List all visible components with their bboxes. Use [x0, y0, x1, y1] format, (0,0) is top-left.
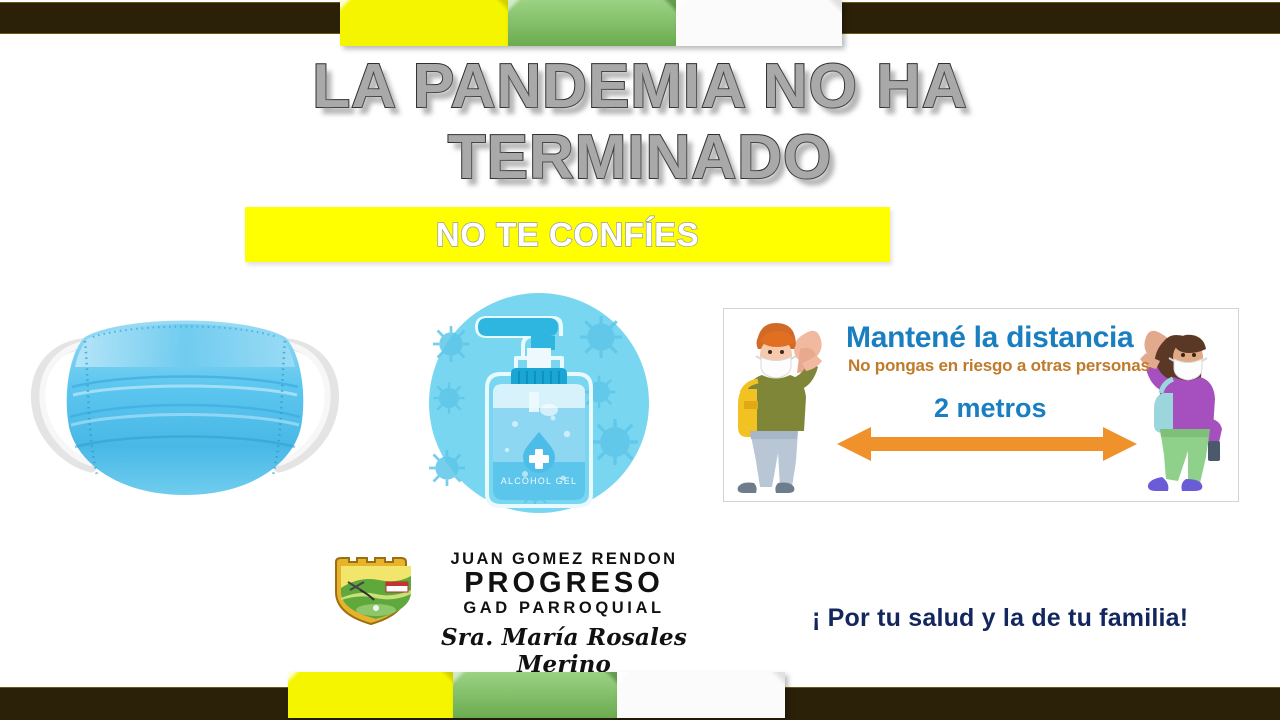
subtitle-banner: NO TE CONFÍES	[245, 207, 890, 262]
president-name: Sra. María Rosales Merino	[430, 624, 698, 678]
subtitle-text: NO TE CONFÍES	[436, 216, 699, 254]
top-green-block	[508, 0, 676, 46]
top-white-block	[676, 0, 842, 46]
logo-line-3: GAD PARROQUIAL	[430, 599, 698, 618]
surgical-mask-icon	[25, 295, 345, 510]
boy-with-mask-icon	[732, 315, 836, 495]
progreso-coat-of-arms-icon	[330, 554, 422, 626]
girl-with-mask-icon	[1130, 315, 1234, 495]
double-arrow-icon	[837, 427, 1137, 461]
distance-subtitle: No pongas en riesgo a otras personas	[848, 356, 1150, 376]
bottom-yellow-block	[288, 672, 453, 718]
surgical-mask-image	[25, 295, 345, 510]
hand-sanitizer-image: ALCOHOL GEL	[403, 292, 675, 514]
bottle-label-text: ALCOHOL GEL	[501, 476, 577, 486]
page-title: LA PANDEMIA NO HA TERMINADO	[0, 52, 1280, 193]
social-distance-graphic: Mantené la distancia No pongas en riesgo…	[723, 308, 1239, 502]
distance-arrow	[837, 427, 1137, 461]
bottom-color-blocks	[288, 672, 785, 718]
distance-measure: 2 metros	[934, 393, 1047, 424]
bottom-white-block	[617, 672, 785, 718]
top-color-blocks	[340, 0, 842, 46]
logo-line-2: PROGRESO	[430, 569, 698, 599]
hand-sanitizer-bottle-icon: ALCOHOL GEL	[403, 292, 675, 514]
top-yellow-block	[340, 0, 508, 46]
parish-logo: JUAN GOMEZ RENDON PROGRESO GAD PARROQUIA…	[330, 550, 700, 668]
bottom-green-block	[453, 672, 617, 718]
health-slogan: ¡ Por tu salud y la de tu familia!	[812, 604, 1188, 633]
distance-title: Mantené la distancia	[846, 321, 1133, 355]
